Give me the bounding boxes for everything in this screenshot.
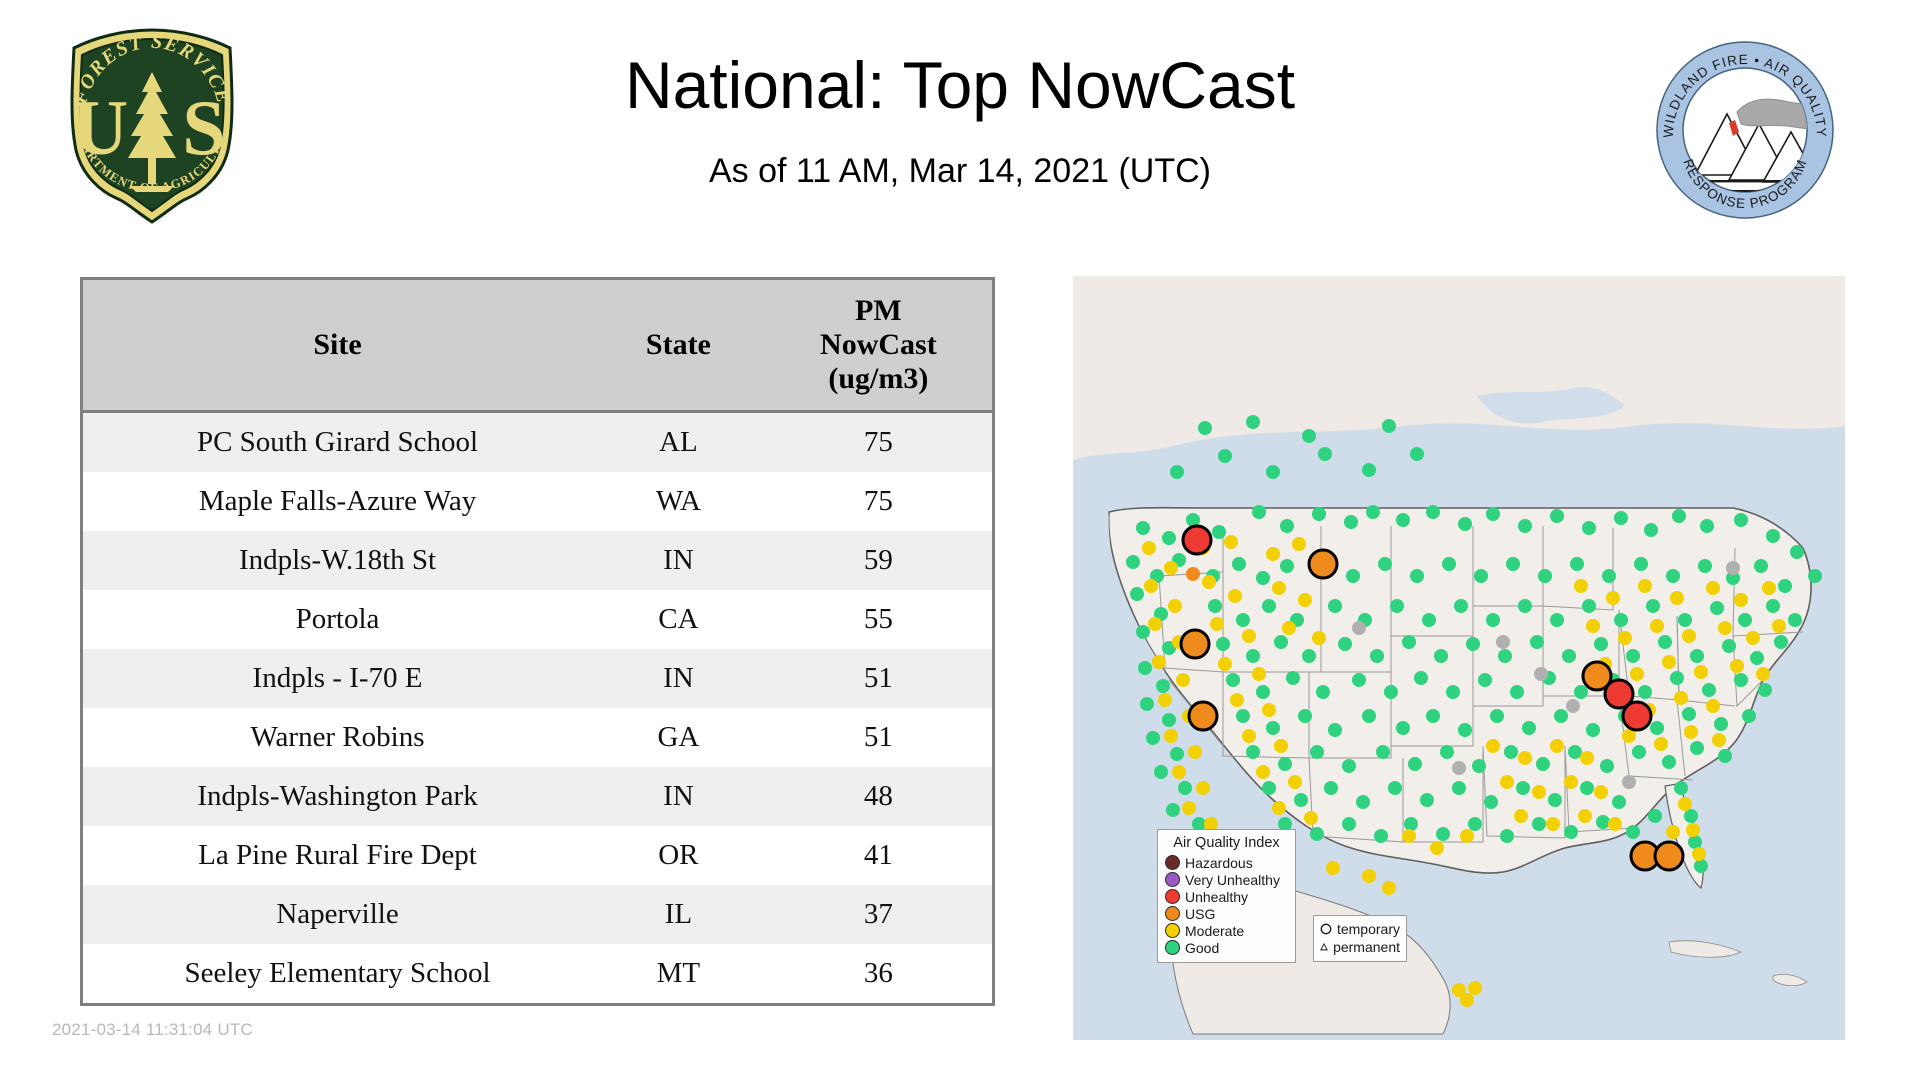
marker-pc-south-girard-al <box>1655 842 1683 870</box>
legend-item-unhealthy: Unhealthy <box>1165 888 1288 905</box>
table-row: La Pine Rural Fire DeptOR41 <box>83 826 992 885</box>
cell-state: CA <box>592 590 765 649</box>
cell-site: PC South Girard School <box>83 412 592 473</box>
cell-value: 41 <box>765 826 992 885</box>
column-header-pm-nowcast: PM NowCast (ug/m3) <box>765 280 992 412</box>
cell-state: GA <box>592 708 765 767</box>
legend-label: Very Unhealthy <box>1185 872 1280 888</box>
legend-item-very-unhealthy: Very Unhealthy <box>1165 871 1288 888</box>
cell-site: Warner Robins <box>83 708 592 767</box>
table-row: Indpls - I-70 EIN51 <box>83 649 992 708</box>
table-row: Warner RobinsGA51 <box>83 708 992 767</box>
very-unhealthy-color-swatch-icon <box>1165 872 1180 887</box>
table-row: PortolaCA55 <box>83 590 992 649</box>
cell-state: AL <box>592 412 765 473</box>
cell-value: 75 <box>765 472 992 531</box>
table-body: PC South Girard SchoolAL75 Maple Falls-A… <box>83 412 992 1004</box>
cell-value: 51 <box>765 708 992 767</box>
table-row: Maple Falls-Azure WayWA75 <box>83 472 992 531</box>
page-subtitle: As of 11 AM, Mar 14, 2021 (UTC) <box>0 150 1920 192</box>
table-row: Indpls-Washington ParkIN48 <box>83 767 992 826</box>
hazardous-color-swatch-icon <box>1165 855 1180 870</box>
cell-site: Seeley Elementary School <box>83 944 592 1003</box>
moderate-color-swatch-icon <box>1165 923 1180 938</box>
pm-line-2: NowCast <box>820 328 937 361</box>
cell-state: IN <box>592 767 765 826</box>
cell-site: Maple Falls-Azure Way <box>83 472 592 531</box>
cell-value: 75 <box>765 412 992 473</box>
legend-label: Hazardous <box>1185 855 1253 871</box>
cell-state: IN <box>592 531 765 590</box>
air-quality-index-legend: Air Quality Index Hazardous Very Unhealt… <box>1157 829 1296 963</box>
legend-item-moderate: Moderate <box>1165 922 1288 939</box>
legend-item-temporary: temporary <box>1320 920 1400 938</box>
legend-item-usg: USG <box>1165 905 1288 922</box>
pm-line-1: PM <box>855 294 902 327</box>
usg-color-swatch-icon <box>1165 906 1180 921</box>
cell-value: 59 <box>765 531 992 590</box>
legend-item-permanent: permanent <box>1320 938 1400 956</box>
legend-label: USG <box>1185 906 1215 922</box>
cell-state: IN <box>592 649 765 708</box>
column-header-site: Site <box>83 280 592 412</box>
marker-indpls-i70-in <box>1623 702 1651 730</box>
good-color-swatch-icon <box>1165 940 1180 955</box>
cell-state: WA <box>592 472 765 531</box>
cell-site: Naperville <box>83 885 592 944</box>
table-row: NapervilleIL37 <box>83 885 992 944</box>
cell-state: OR <box>592 826 765 885</box>
table-header-row: Site State PM NowCast (ug/m3) <box>83 280 992 412</box>
slide-root: FOREST SERVICE DEPARTMENT OF AGRICULTURE… <box>0 0 1920 1080</box>
legend-item-good: Good <box>1165 939 1288 956</box>
cell-value: 51 <box>765 649 992 708</box>
cell-site: Indpls-Washington Park <box>83 767 592 826</box>
cell-value: 36 <box>765 944 992 1003</box>
cell-state: IL <box>592 885 765 944</box>
legend-item-hazardous: Hazardous <box>1165 854 1288 871</box>
legend-label: Moderate <box>1185 923 1244 939</box>
temporary-monitor-icon <box>1320 921 1332 937</box>
cell-site: La Pine Rural Fire Dept <box>83 826 592 885</box>
page-title: National: Top NowCast <box>0 48 1920 122</box>
cell-site: Indpls - I-70 E <box>83 649 592 708</box>
cell-value: 48 <box>765 767 992 826</box>
permanent-monitor-icon <box>1320 939 1328 955</box>
marker-portola-ca <box>1189 702 1217 730</box>
cell-state: MT <box>592 944 765 1003</box>
top-nowcast-table: Site State PM NowCast (ug/m3) PC South G… <box>80 277 995 1006</box>
generation-timestamp: 2021-03-14 11:31:04 UTC <box>52 1020 253 1040</box>
legend-label: permanent <box>1333 939 1400 955</box>
table-row: Indpls-W.18th StIN59 <box>83 531 992 590</box>
marker-la-pine-or <box>1181 630 1209 658</box>
table-row: PC South Girard SchoolAL75 <box>83 412 992 473</box>
pm-line-3: (ug/m3) <box>828 362 928 395</box>
unhealthy-color-swatch-icon <box>1165 889 1180 904</box>
cell-site: Indpls-W.18th St <box>83 531 592 590</box>
marker-maple-falls-wa <box>1183 526 1211 554</box>
legend-label: Good <box>1185 940 1219 956</box>
legend-title: Air Quality Index <box>1165 835 1288 851</box>
monitor-type-legend: temporary permanent <box>1313 915 1407 962</box>
cell-value: 37 <box>765 885 992 944</box>
cell-value: 55 <box>765 590 992 649</box>
legend-label: Unhealthy <box>1185 889 1248 905</box>
table-row: Seeley Elementary SchoolMT36 <box>83 944 992 1003</box>
cell-site: Portola <box>83 590 592 649</box>
column-header-state: State <box>592 280 765 412</box>
marker-seeley-mt <box>1309 550 1337 578</box>
legend-label: temporary <box>1337 921 1400 937</box>
